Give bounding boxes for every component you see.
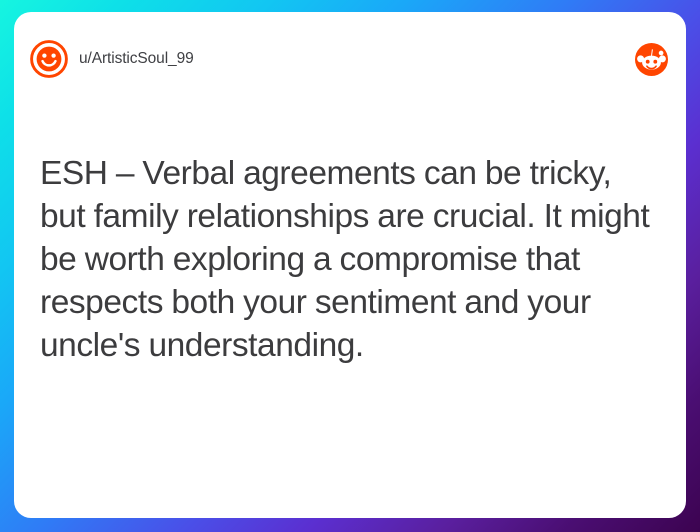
reddit-logo[interactable] <box>635 43 668 76</box>
smiley-face-icon <box>30 40 68 78</box>
avatar[interactable] <box>30 40 68 78</box>
reddit-snoo-icon <box>635 43 668 76</box>
post-header: u/ArtisticSoul_99 <box>14 36 686 82</box>
post-text: ESH – Verbal agreements can be tricky, b… <box>40 152 664 367</box>
reddit-post-card: u/ArtisticSoul_99 <box>14 12 686 518</box>
gradient-backdrop: u/ArtisticSoul_99 <box>0 0 700 532</box>
username-label: u/ArtisticSoul_99 <box>79 50 194 68</box>
